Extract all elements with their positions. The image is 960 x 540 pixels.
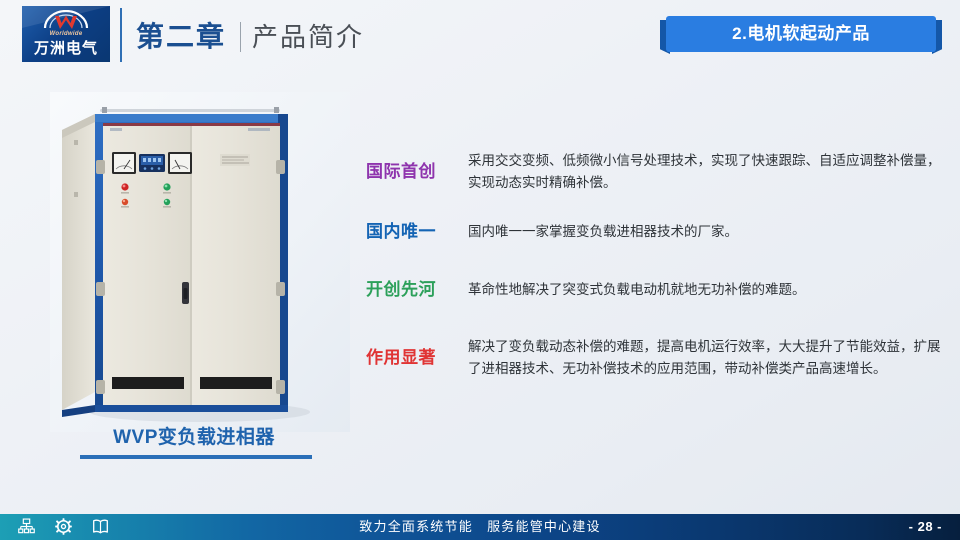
feature-item: 国内唯一 国内唯一一家掌握变负载进相器技术的厂家。 bbox=[366, 220, 946, 244]
feature-label: 作用显著 bbox=[366, 346, 452, 370]
page-number: - 28 - bbox=[909, 514, 942, 540]
feature-list: 国际首创 采用交交变频、低频微小信号处理技术，实现了快速跟踪、自适应调整补偿量，… bbox=[366, 150, 946, 394]
feature-item: 作用显著 解决了变负载动态补偿的难题，提高电机运行效率，大大提升了节能效益，扩展… bbox=[366, 336, 946, 380]
logo-divider bbox=[120, 8, 122, 62]
chapter-title: 第二章 bbox=[136, 18, 226, 56]
logo-wordmark-cn: 万洲电气 bbox=[22, 39, 110, 58]
slide-header: Worldwide 万洲电气 第二章 产品简介 2.电机软起动产品 bbox=[0, 0, 960, 78]
section-ribbon-banner: 2.电机软起动产品 bbox=[660, 16, 942, 54]
feature-label: 国内唯一 bbox=[366, 220, 452, 244]
feature-label: 国际首创 bbox=[366, 160, 452, 184]
product-figure: WVP变负载进相器 bbox=[50, 92, 350, 462]
logo-wordmark-en: Worldwide bbox=[22, 31, 110, 38]
slide-canvas: Worldwide 万洲电气 第二章 产品简介 2.电机软起动产品 bbox=[0, 0, 960, 540]
feature-text: 解决了变负载动态补偿的难题，提高电机运行效率，大大提升了节能效益，扩展了进相器技… bbox=[452, 336, 946, 380]
w-emblem-icon bbox=[42, 10, 90, 32]
feature-item: 开创先河 革命性地解决了突变式负载电动机就地无功补偿的难题。 bbox=[366, 278, 946, 302]
ribbon-label: 2.电机软起动产品 bbox=[666, 16, 936, 52]
footer-slogan: 致力全面系统节能 服务能管中心建设 bbox=[0, 514, 960, 540]
feature-text: 革命性地解决了突变式负载电动机就地无功补偿的难题。 bbox=[452, 279, 946, 301]
slide-footer: 致力全面系统节能 服务能管中心建设 - 28 - bbox=[0, 514, 960, 540]
caption-underline bbox=[80, 455, 312, 459]
product-cabinet-photo bbox=[50, 92, 350, 432]
feature-label: 开创先河 bbox=[366, 278, 452, 302]
product-caption: WVP变负载进相器 bbox=[50, 425, 338, 451]
title-divider bbox=[240, 22, 241, 52]
section-title: 产品简介 bbox=[252, 19, 364, 55]
company-logo: Worldwide 万洲电气 bbox=[22, 6, 110, 62]
feature-item: 国际首创 采用交交变频、低频微小信号处理技术，实现了快速跟踪、自适应调整补偿量，… bbox=[366, 150, 946, 194]
feature-text: 采用交交变频、低频微小信号处理技术，实现了快速跟踪、自适应调整补偿量，实现动态实… bbox=[452, 150, 946, 194]
feature-text: 国内唯一一家掌握变负载进相器技术的厂家。 bbox=[452, 221, 946, 243]
